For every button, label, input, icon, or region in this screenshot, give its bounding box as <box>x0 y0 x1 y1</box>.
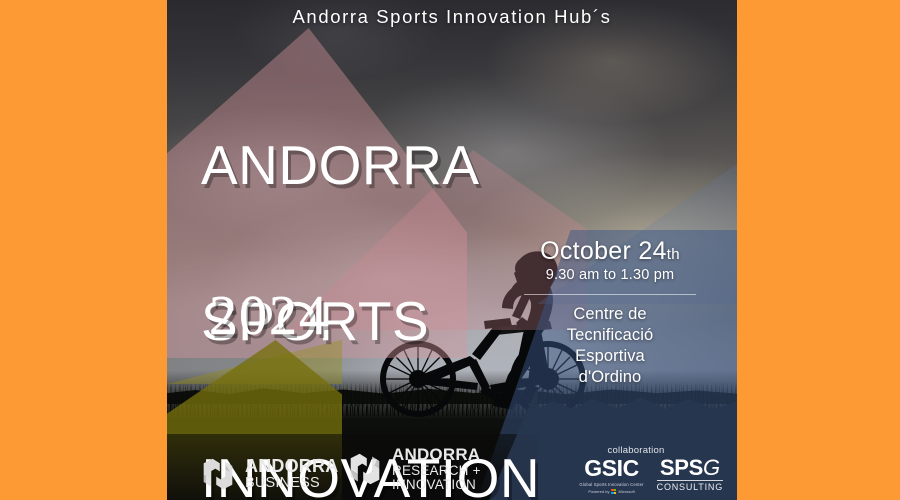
powered-by-text: Powered by <box>588 489 609 494</box>
venue-line-4: d'Ordino <box>505 367 715 388</box>
poster-year: 2024 <box>209 288 329 344</box>
info-divider <box>524 294 696 295</box>
ab-line-1: ANDORRA <box>245 457 338 476</box>
spsg-italic: G <box>703 455 720 480</box>
venue-line-3: Esportiva <box>505 346 715 367</box>
logo-andorra-business: ANDORRA BUSINESS <box>200 457 338 491</box>
spsg-bold: SPS <box>660 455 703 480</box>
andorra-business-text: ANDORRA BUSINESS <box>245 457 338 491</box>
andorra-hexagon-icon <box>347 452 383 486</box>
event-poster: Andorra Sports Innovation Hub´s ANDORRA … <box>167 0 737 500</box>
ari-line-3: INNOVATION <box>392 478 481 492</box>
title-line-1: ANDORRA <box>201 139 540 191</box>
gsic-wordmark: GSIC <box>579 457 643 480</box>
microsoft-brand-text: Microsoft <box>618 489 634 494</box>
logo-andorra-research-innovation: ANDORRA RESEARCH + INNOVATION <box>347 446 481 492</box>
event-venue: Centre de Tecnificació Esportiva d'Ordin… <box>505 304 715 387</box>
logo-gsic: GSIC Global Sports Innovation Center Pow… <box>579 457 643 494</box>
microsoft-logo-icon <box>611 489 616 494</box>
venue-line-1: Centre de <box>505 304 715 325</box>
spsg-wordmark: SPSG <box>657 457 723 479</box>
event-date: October 24th <box>505 238 715 264</box>
poster-kicker: Andorra Sports Innovation Hub´s <box>167 6 737 28</box>
ari-line-2: RESEARCH + <box>392 464 481 478</box>
sponsor-logo-strip: ANDORRA BUSINESS ANDORRA RESEARCH + I <box>167 434 737 500</box>
logo-spsg: SPSG CONSULTING <box>657 457 723 492</box>
ab-line-2: BUSINESS <box>245 476 338 491</box>
event-date-text: October 24 <box>540 237 667 265</box>
gsic-powered-by: Powered by Microsoft <box>579 489 643 494</box>
andorra-research-text: ANDORRA RESEARCH + INNOVATION <box>392 446 481 492</box>
poster-title: ANDORRA SPORTS INNOVATION FORUM <box>201 34 540 500</box>
venue-line-2: Tecnificació <box>505 325 715 346</box>
partner-logos: GSIC Global Sports Innovation Center Pow… <box>579 457 723 494</box>
event-date-suffix: th <box>667 246 680 263</box>
event-info-block: October 24th 9.30 am to 1.30 pm Centre d… <box>505 238 715 387</box>
ari-line-1: ANDORRA <box>392 446 481 464</box>
gsic-tagline: Global Sports Innovation Center <box>579 482 643 487</box>
event-time: 9.30 am to 1.30 pm <box>505 267 715 283</box>
spsg-tagline: CONSULTING <box>657 480 723 492</box>
andorra-hexagon-icon <box>200 457 236 491</box>
